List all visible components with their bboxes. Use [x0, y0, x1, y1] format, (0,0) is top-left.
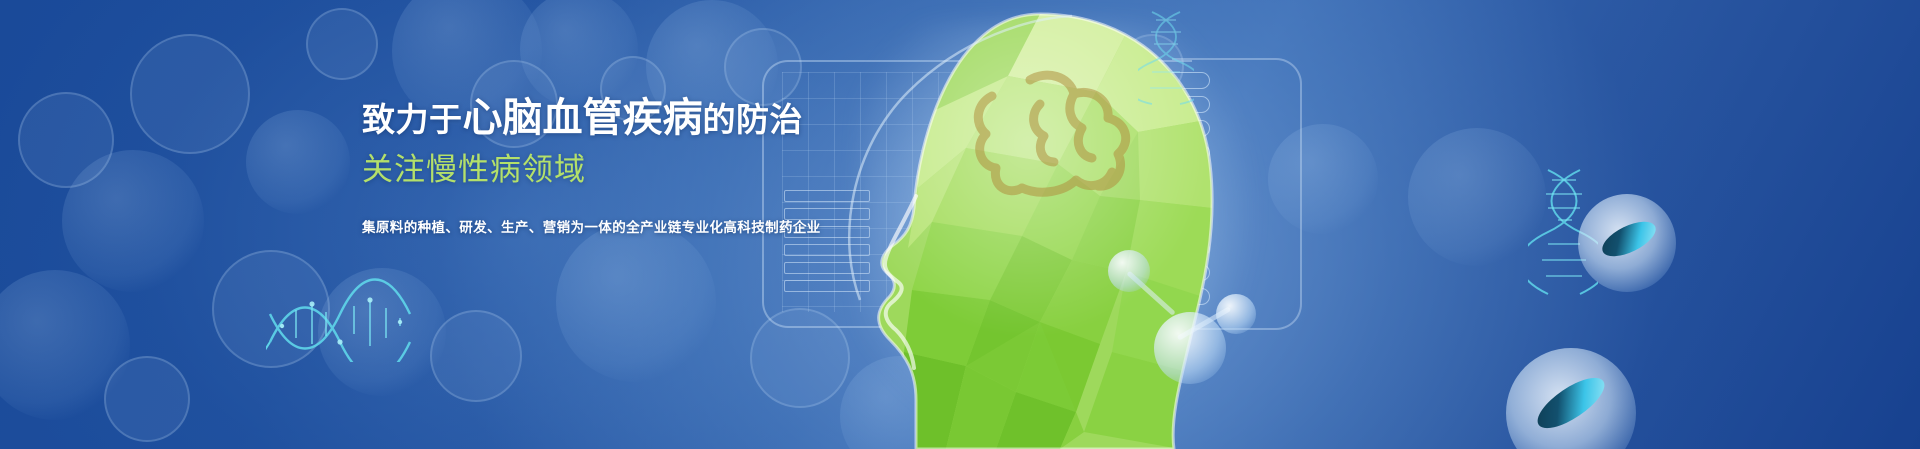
low-poly-head-illustration [740, 0, 1380, 449]
page-title: 致力于心脑血管疾病的防治 [362, 93, 832, 143]
molecule-atom [1216, 294, 1256, 334]
hero-banner: 致力于心脑血管疾病的防治 关注慢性病领域 集原料的种植、研发、生产、营销为一体的… [0, 0, 1920, 449]
bokeh-circle [306, 8, 378, 80]
molecule-atom [1108, 250, 1150, 292]
headline-suffix: 的防治 [703, 101, 804, 138]
bokeh-circle [0, 270, 130, 420]
bokeh-circle [18, 92, 114, 188]
bokeh-circle [130, 34, 250, 154]
bacteria-rod [1530, 369, 1611, 437]
bokeh-circle [556, 222, 716, 382]
head-svg [740, 0, 1380, 449]
bokeh-circle [430, 310, 522, 402]
headline-prefix: 致力于 [362, 101, 463, 138]
bokeh-circle [520, 0, 638, 108]
cell-bacteria-bottom [1506, 348, 1636, 449]
banner-copy: 致力于心脑血管疾病的防治 关注慢性病领域 集原料的种植、研发、生产、营销为一体的… [362, 93, 832, 236]
bokeh-circle [1408, 128, 1546, 266]
dna-helix-left [266, 272, 426, 362]
molecule-atom [1154, 312, 1226, 384]
cell-bacteria-top [1578, 194, 1676, 292]
headline-emphasis: 心脑血管疾病 [463, 96, 703, 140]
page-tagline: 集原料的种植、研发、生产、营销为一体的全产业链专业化高科技制药企业 [362, 216, 832, 236]
bokeh-circle [62, 150, 204, 292]
bokeh-circle [246, 110, 350, 214]
bacteria-rod [1597, 215, 1661, 264]
molecule-illustration [1100, 240, 1270, 390]
dna-helix-top [1138, 10, 1194, 106]
page-subtitle: 关注慢性病领域 [362, 151, 832, 190]
bokeh-circle [104, 356, 190, 442]
